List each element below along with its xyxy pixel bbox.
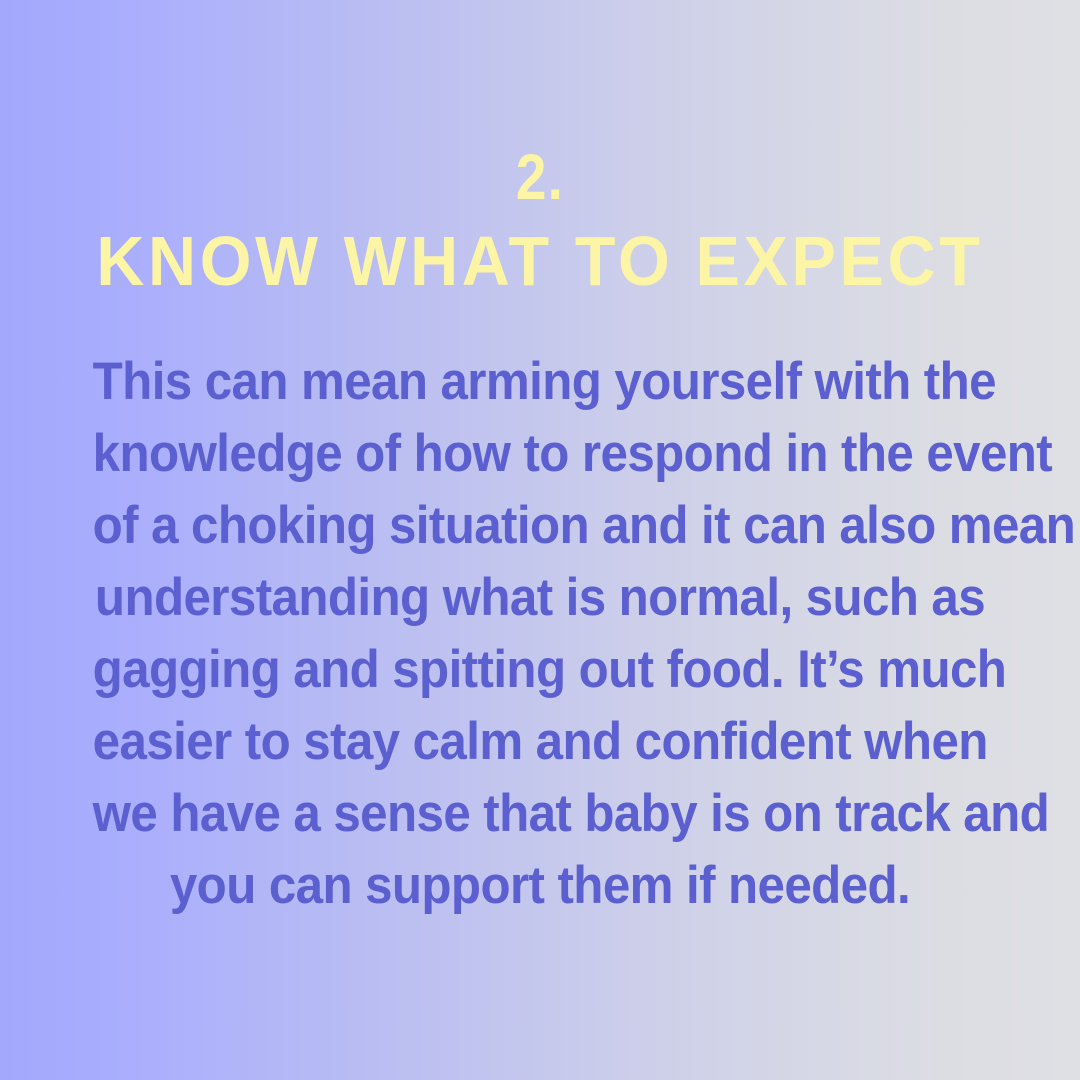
body-line: This can mean arming yourself with the [93,346,988,418]
body-line: easier to stay calm and confident when [93,706,988,778]
heading-block: 2. KNOW WHAT TO EXPECT [0,146,1080,300]
body-line: knowledge of how to respond in the event [93,418,988,490]
body-line: understanding what is normal, such as [93,562,988,634]
page-title: KNOW WHAT TO EXPECT [96,222,983,300]
heading-step-number: 2. [516,146,564,208]
body-line: of a choking situation and it can also m… [93,490,988,562]
slide-canvas: 2. KNOW WHAT TO EXPECT This can mean arm… [0,0,1080,1080]
body-line: gagging and spitting out food. It’s much [93,634,988,706]
body-paragraph: This can mean arming yourself with the k… [59,346,1021,922]
body-line: you can support them if needed. [93,850,988,922]
body-line: we have a sense that baby is on track an… [93,778,988,850]
